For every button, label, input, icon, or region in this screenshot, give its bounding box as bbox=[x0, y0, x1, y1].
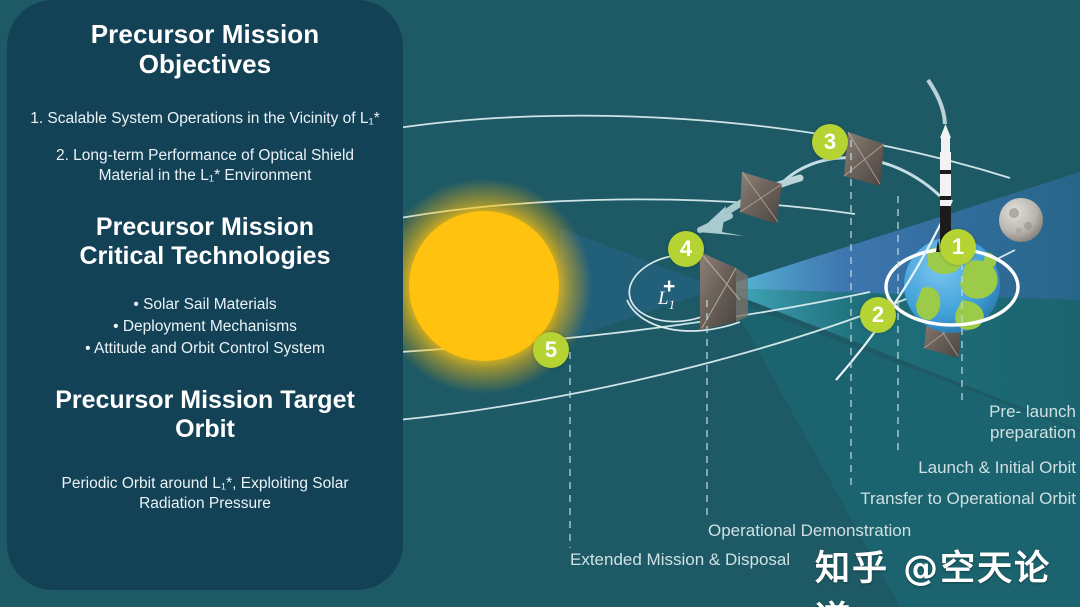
heading-tech-line1: Precursor Mission bbox=[27, 213, 383, 242]
diagram-canvas: Precursor Mission Objectives 1. Scalable… bbox=[0, 0, 1080, 607]
phase-label-pre-launch: Pre- launch preparation bbox=[989, 402, 1076, 443]
watermark: 知乎 @空天论道 bbox=[815, 540, 1080, 607]
marker-3[interactable]: 3 bbox=[812, 124, 848, 160]
info-panel: Precursor Mission Objectives 1. Scalable… bbox=[7, 0, 403, 590]
tech-bullet-1: • Deployment Mechanisms bbox=[27, 316, 383, 338]
panel-heading-objectives: Precursor Mission Objectives bbox=[27, 20, 383, 79]
panel-heading-technologies: Precursor Mission Critical Technologies bbox=[27, 213, 383, 271]
l1-label-sub: 1 bbox=[669, 297, 675, 312]
l1-label-letter: L bbox=[658, 288, 669, 309]
phase-label-transfer: Transfer to Operational Orbit bbox=[860, 489, 1076, 510]
orbit-outer-upper bbox=[398, 116, 1010, 178]
phase-label-launch: Launch & Initial Orbit bbox=[918, 458, 1076, 479]
objective-item-1: 1. Scalable System Operations in the Vic… bbox=[27, 109, 383, 129]
l1-label: L1 bbox=[658, 288, 675, 313]
marker-3-number: 3 bbox=[824, 129, 836, 155]
panel-heading-target-orbit: Precursor Mission Target Orbit bbox=[27, 386, 383, 444]
marker-2[interactable]: 2 bbox=[860, 297, 896, 333]
solar-sail-transfer-a bbox=[740, 172, 782, 224]
marker-4-number: 4 bbox=[680, 236, 692, 262]
marker-5[interactable]: 5 bbox=[533, 332, 569, 368]
marker-4[interactable]: 4 bbox=[668, 231, 704, 267]
phase-label-extended: Extended Mission & Disposal bbox=[570, 550, 790, 571]
heading-orbit-line1: Precursor Mission Target bbox=[27, 386, 383, 415]
heading-objectives-line1: Precursor Mission bbox=[27, 20, 383, 50]
marker-1-number: 1 bbox=[952, 234, 964, 260]
tech-bullet-0: • Solar Sail Materials bbox=[27, 294, 383, 316]
tech-bullet-2: • Attitude and Orbit Control System bbox=[27, 338, 383, 360]
target-orbit-description: Periodic Orbit around L₁*, Exploiting So… bbox=[27, 474, 383, 514]
marker-5-number: 5 bbox=[545, 337, 557, 363]
heading-orbit-line2: Orbit bbox=[27, 415, 383, 444]
heading-objectives-line2: Objectives bbox=[27, 50, 383, 80]
marker-2-number: 2 bbox=[872, 302, 884, 328]
technology-bullets: • Solar Sail Materials • Deployment Mech… bbox=[27, 294, 383, 360]
heading-tech-line2: Critical Technologies bbox=[27, 242, 383, 271]
marker-1[interactable]: 1 bbox=[940, 229, 976, 265]
moon bbox=[999, 198, 1043, 242]
objective-item-2: 2. Long-term Performance of Optical Shie… bbox=[27, 146, 383, 186]
solar-sail-transfer-b bbox=[844, 132, 884, 186]
phase-label-operational: Operational Demonstration bbox=[708, 521, 911, 542]
